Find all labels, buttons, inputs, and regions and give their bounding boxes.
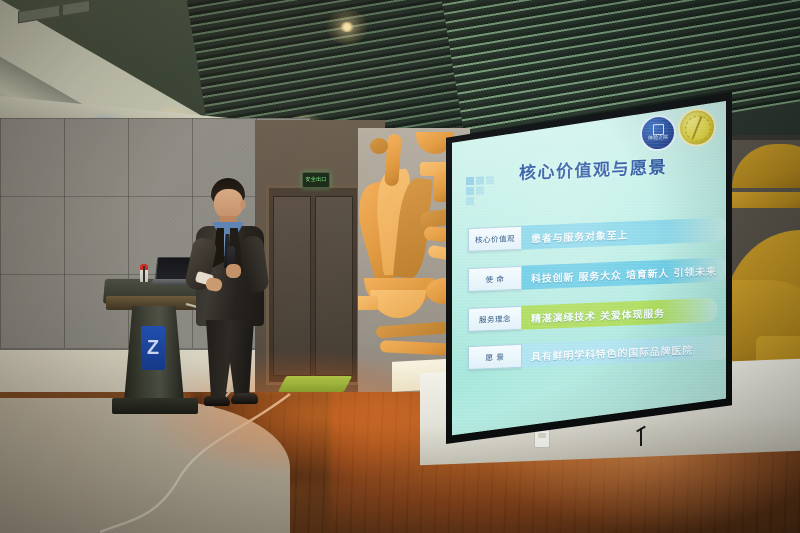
row-bar: 患者与服务对象至上 xyxy=(522,217,726,250)
row-label: 愿 景 xyxy=(468,344,522,370)
relief-tab xyxy=(358,296,378,310)
ceiling-vent xyxy=(18,5,60,24)
row-bar: 精湛演绎技术 关爱体现服务 xyxy=(522,298,717,330)
relief-circle xyxy=(370,138,388,154)
presenter-ear xyxy=(240,200,246,209)
slide-title: 核心价值观与愿景 xyxy=(498,152,688,185)
presenter-trousers xyxy=(204,320,256,402)
row-label: 核心价值观 xyxy=(468,226,522,252)
blue-logo-text: 体验之院 xyxy=(648,136,668,143)
slide-row: 核心价值观 患者与服务对象至上 xyxy=(468,216,726,253)
presenter-shoe-left xyxy=(204,396,230,406)
logo-mark-icon xyxy=(653,124,664,135)
decorative-squares xyxy=(466,176,500,207)
podium-logo-text: Z xyxy=(147,337,159,360)
presenter-face xyxy=(214,189,243,219)
door-panel-right xyxy=(315,196,353,376)
ceiling-spotlight-glow xyxy=(324,10,370,44)
relief-arc-right xyxy=(732,144,800,188)
row-bar: 具有鲜明学科特色的国际品牌医院 xyxy=(522,335,726,368)
relief-bowl-inner xyxy=(370,290,426,318)
gold-circular-logo xyxy=(678,108,716,148)
podium-logo-plate: Z xyxy=(141,326,165,370)
presentation-room-photo: 安全出口 xyxy=(0,0,800,533)
relief-wave-bottom xyxy=(380,340,457,356)
row-label: 服务理念 xyxy=(468,306,522,332)
presenter xyxy=(186,178,286,418)
slide-row: 愿 景 具有鲜明学科特色的国际品牌医院 xyxy=(468,334,726,371)
slide-row: 使 命 科技创新 服务大众 培育新人 引领未来 xyxy=(468,256,726,293)
podium-microphone xyxy=(143,266,145,282)
relief-bar-right xyxy=(730,192,800,208)
relief-wave-bottom xyxy=(376,322,449,339)
row-label: 使 命 xyxy=(468,266,522,292)
presentation-screen[interactable]: 体验之院 核心价值观与愿景 核心价值观 患者与服务对象至上 使 命 科技创新 服… xyxy=(446,92,732,444)
slide-content: 体验之院 核心价值观与愿景 核心价值观 患者与服务对象至上 使 命 科技创新 服… xyxy=(452,98,726,438)
screen-display: 体验之院 核心价值观与愿景 核心价值观 患者与服务对象至上 使 命 科技创新 服… xyxy=(452,98,726,438)
row-bar: 科技创新 服务大众 培育新人 引领未来 xyxy=(522,257,726,290)
presenter-hand-right xyxy=(226,264,241,278)
presenter-shoe-right xyxy=(231,393,258,404)
slide-row: 服务理念 精湛演绎技术 关爱体现服务 xyxy=(468,297,717,333)
blue-circular-logo: 体验之院 xyxy=(640,114,676,152)
exit-sign-label: 安全出口 xyxy=(305,178,326,183)
ceiling-vent xyxy=(62,0,90,16)
green-floor-strip xyxy=(278,376,353,392)
exit-sign: 安全出口 xyxy=(302,172,330,188)
